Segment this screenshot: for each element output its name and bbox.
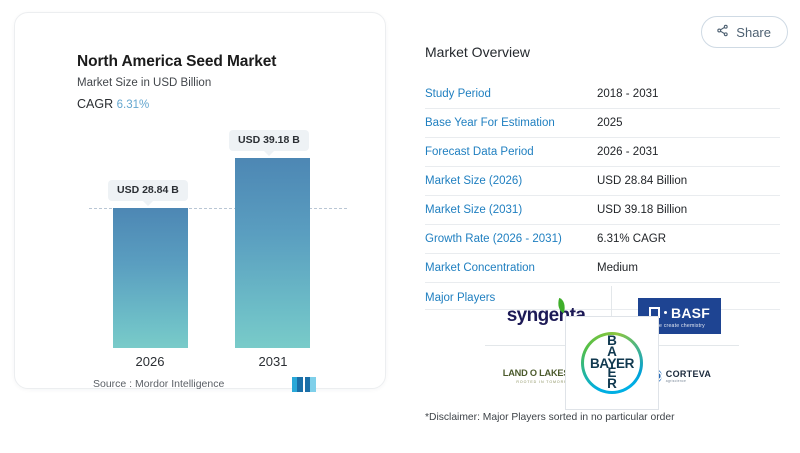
x-axis-label-2026: 2026 (105, 354, 195, 369)
share-button-label: Share (736, 25, 771, 40)
table-row: Base Year For Estimation 2025 (425, 109, 780, 138)
table-row: Study Period 2018 - 2031 (425, 80, 780, 109)
table-row: Market Size (2026) USD 28.84 Billion (425, 167, 780, 196)
cagr-value: 6.31% (117, 99, 150, 111)
row-label: Forecast Data Period (425, 138, 597, 167)
row-value: 2026 - 2031 (597, 138, 780, 167)
bayer-wordmark-vertical: BAYER (607, 336, 617, 390)
mordor-intelligence-logo (291, 375, 321, 393)
overview-title: Market Overview (425, 44, 783, 60)
corteva-wordmark: CORTEVA (666, 369, 711, 379)
disclaimer-text: *Disclaimer: Major Players sorted in no … (425, 412, 675, 423)
corteva-tagline: agriscience (666, 379, 711, 383)
row-label: Growth Rate (2026 - 2031) (425, 225, 597, 254)
bar-label-2031: USD 39.18 B (229, 130, 309, 151)
major-players-logo-grid: syngenta BASF We create chemistry LAND O… (487, 288, 737, 403)
row-value: 6.31% CAGR (597, 225, 780, 254)
chart-subtitle: Market Size in USD Billion (77, 77, 211, 89)
source-text: Source : Mordor Intelligence (93, 378, 224, 390)
row-label: Market Size (2026) (425, 167, 597, 196)
market-report-page: North America Seed Market Market Size in… (0, 0, 800, 453)
bar-label-2026: USD 28.84 B (108, 180, 188, 201)
bar-2026[interactable] (113, 208, 188, 348)
chart-card: North America Seed Market Market Size in… (14, 12, 386, 389)
cagr-label: CAGR (77, 97, 113, 111)
table-row: Market Concentration Medium (425, 254, 780, 283)
row-value: USD 39.18 Billion (597, 196, 780, 225)
x-axis-label-2031: 2031 (228, 354, 318, 369)
row-label: Market Concentration (425, 254, 597, 283)
cagr-row: CAGR 6.31% (77, 97, 149, 111)
basf-wordmark: BASF (671, 305, 710, 321)
overview-table: Study Period 2018 - 2031 Base Year For E… (425, 80, 780, 310)
table-row: Growth Rate (2026 - 2031) 6.31% CAGR (425, 225, 780, 254)
row-label: Study Period (425, 80, 597, 109)
market-overview-panel: Market Overview Study Period 2018 - 2031… (425, 44, 783, 310)
row-value: 2018 - 2031 (597, 80, 780, 109)
bar-2031[interactable] (235, 158, 310, 348)
row-value: 2025 (597, 109, 780, 138)
bar-chart-plot: USD 28.84 B USD 39.18 B 2026 2031 (45, 118, 357, 348)
table-row: Market Size (2031) USD 39.18 Billion (425, 196, 780, 225)
row-label: Market Size (2031) (425, 196, 597, 225)
logo-bayer: BAYER BAYER (565, 316, 659, 410)
row-label: Base Year For Estimation (425, 109, 597, 138)
bayer-cross-icon: BAYER BAYER (581, 332, 643, 394)
chart-title: North America Seed Market (77, 53, 276, 71)
row-value: Medium (597, 254, 780, 283)
basf-dot-icon (664, 311, 667, 314)
table-row: Forecast Data Period 2026 - 2031 (425, 138, 780, 167)
row-value: USD 28.84 Billion (597, 167, 780, 196)
basf-tagline: We create chemistry (654, 323, 705, 329)
share-icon (716, 24, 729, 40)
